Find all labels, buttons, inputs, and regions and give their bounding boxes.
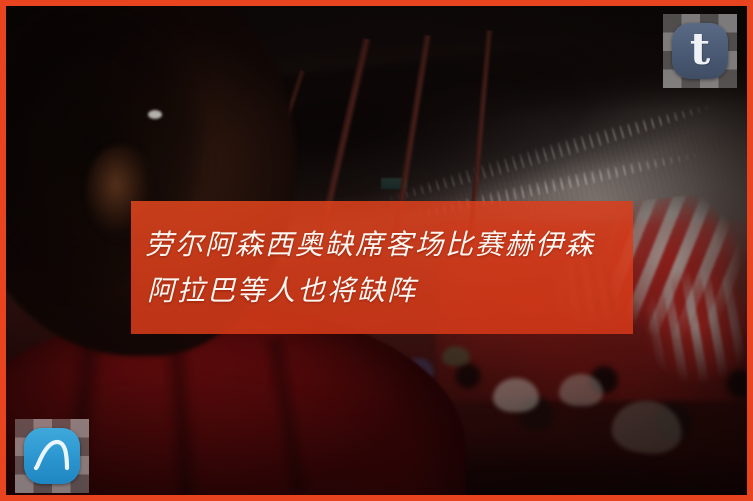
wireshark-fin-glyph: [15, 419, 89, 493]
tumblr-icon[interactable]: t: [663, 14, 737, 88]
light-glint: [148, 110, 162, 119]
caption-line-2: 阿拉巴等人也将缺阵: [145, 268, 619, 314]
crowd-cap-1: [493, 378, 539, 412]
shark-fin-icon: [24, 428, 80, 484]
caption-line-1: 劳尔阿森西奥缺席客场比赛赫伊森: [145, 222, 619, 268]
caption-banner: 劳尔阿森西奥缺席客场比赛赫伊森 阿拉巴等人也将缺阵: [131, 201, 633, 334]
crowd-cap-2: [559, 374, 603, 406]
wireshark-icon[interactable]: [15, 419, 89, 493]
tumblr-icon-glyph: t: [663, 14, 737, 88]
tumblr-letter-t: t: [690, 28, 710, 72]
news-photo-card: 劳尔阿森西奥缺席客场比赛赫伊森 阿拉巴等人也将缺阵 t: [0, 0, 753, 501]
crowd-cap-5: [442, 346, 470, 366]
